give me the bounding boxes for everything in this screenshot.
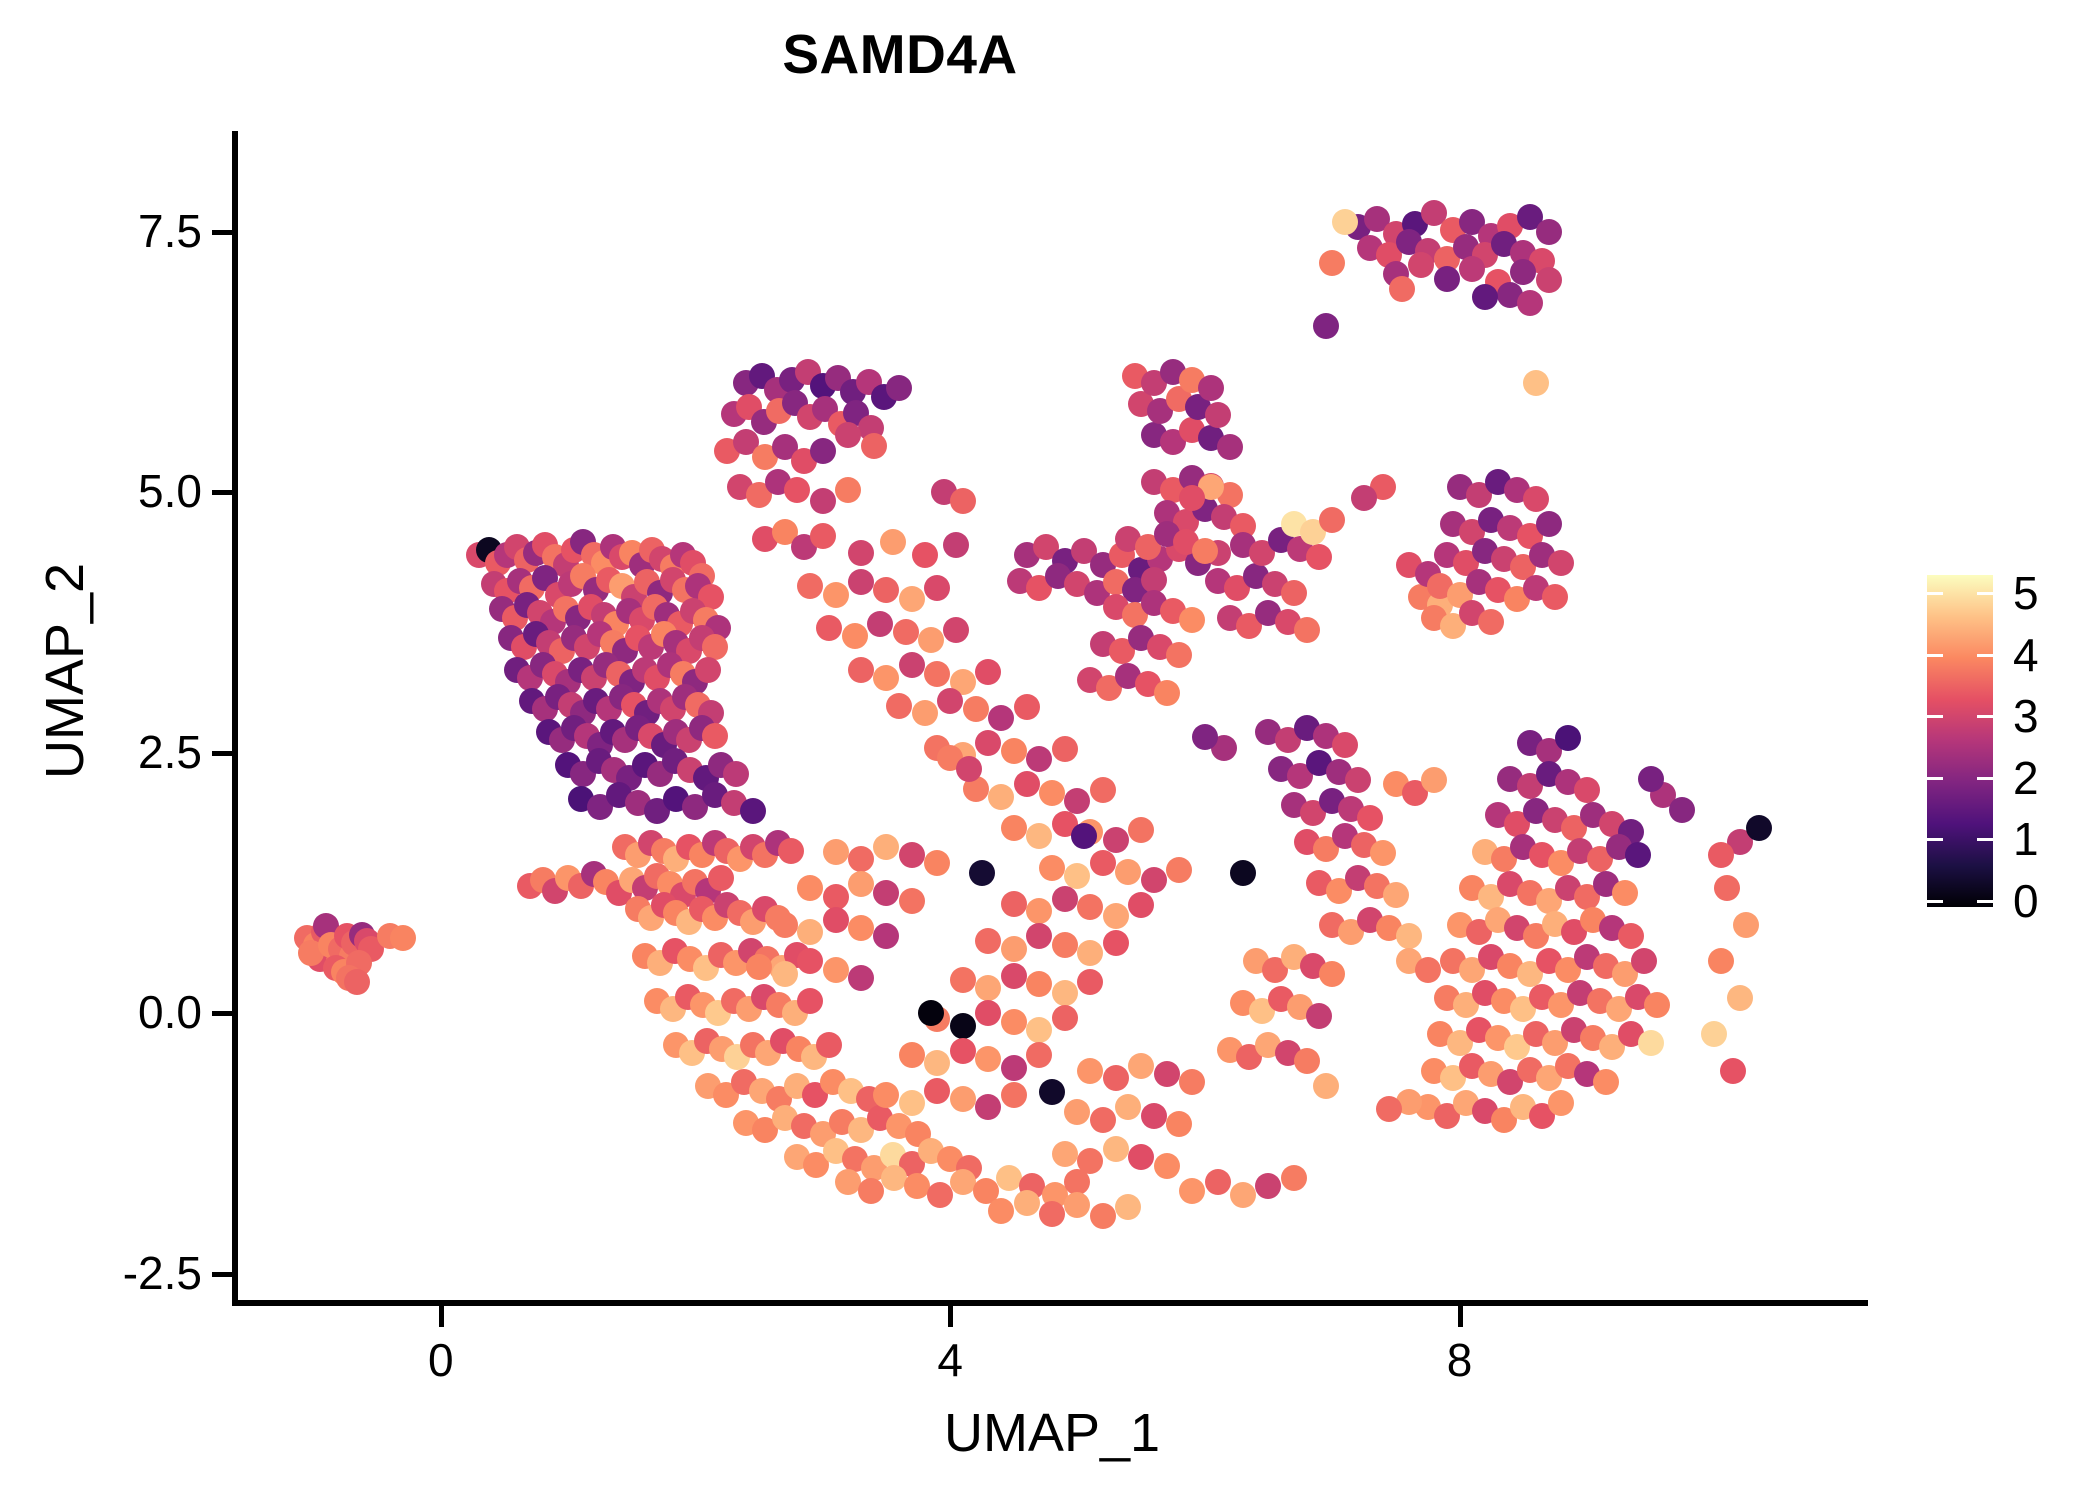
x-axis-tick-label: 4 [890, 1333, 1010, 1387]
x-axis-tick [439, 1305, 444, 1327]
scatter-point [1026, 1042, 1052, 1068]
scatter-point [848, 871, 874, 897]
scatter-point [1523, 370, 1549, 396]
y-axis-line [232, 131, 238, 1303]
colorbar-tick [1927, 777, 1943, 780]
scatter-point [867, 611, 893, 637]
scatter-point [1039, 855, 1065, 881]
scatter-point [1746, 815, 1772, 841]
scatter-point [861, 433, 887, 459]
scatter-point [816, 1032, 842, 1058]
scatter-point [1294, 1048, 1320, 1074]
scatter-point [1001, 1009, 1027, 1035]
scatter-point [873, 834, 899, 860]
colorbar-tick [1927, 654, 1943, 657]
scatter-point [1345, 767, 1371, 793]
scatter-point [746, 954, 772, 980]
scatter-point [1396, 923, 1422, 949]
scatter-point [975, 1046, 1001, 1072]
scatter-point [1510, 259, 1536, 285]
scatter-point [950, 967, 976, 993]
scatter-point [835, 422, 861, 448]
scatter-point [943, 532, 969, 558]
x-axis-tick [948, 1305, 953, 1327]
y-axis-tick [212, 751, 234, 756]
scatter-point [1115, 859, 1141, 885]
scatter-point [1128, 1053, 1154, 1079]
scatter-point [810, 438, 836, 464]
umap-feature-plot: SAMD4A -2.50.02.55.07.5 048 UMAP_2 UMAP_… [0, 0, 2100, 1500]
scatter-point [1115, 1194, 1141, 1220]
scatter-point [886, 693, 912, 719]
scatter-point [1669, 797, 1695, 823]
scatter-point [1166, 1111, 1192, 1137]
colorbar-tick-label: 5 [2013, 566, 2039, 620]
scatter-point [899, 586, 925, 612]
scatter-point [1064, 863, 1090, 889]
scatter-point [784, 477, 810, 503]
scatter-point [1179, 1178, 1205, 1204]
scatter-point [1077, 940, 1103, 966]
scatter-point [1064, 1192, 1090, 1218]
scatter-point [1714, 875, 1740, 901]
scatter-point [848, 540, 874, 566]
scatter-point [390, 925, 416, 951]
y-axis-tick-label: 0.0 [138, 985, 202, 1039]
scatter-point [1077, 1058, 1103, 1084]
scatter-point [1154, 1153, 1180, 1179]
scatter-point [823, 884, 849, 910]
scatter-point [797, 573, 823, 599]
scatter-point [1612, 880, 1638, 906]
scatter-point [1306, 1003, 1332, 1029]
scatter-point [975, 730, 1001, 756]
scatter-point [1313, 1073, 1339, 1099]
scatter-point [899, 652, 925, 678]
scatter-point [1014, 1190, 1040, 1216]
scatter-point [975, 975, 1001, 1001]
scatter-point [848, 657, 874, 683]
scatter-point [702, 723, 728, 749]
colorbar-tick [1977, 592, 1993, 595]
scatter-point [873, 665, 899, 691]
scatter-point [969, 860, 995, 886]
scatter-point [918, 627, 944, 653]
y-axis-tick [212, 1272, 234, 1277]
scatter-point [1536, 267, 1562, 293]
scatter-point [723, 761, 749, 787]
scatter-point [1090, 850, 1116, 876]
scatter-point [1052, 736, 1078, 762]
scatter-point [1548, 550, 1574, 576]
scatter-point [695, 657, 721, 683]
scatter-point [924, 661, 950, 687]
scatter-point [1415, 957, 1441, 983]
colorbar-tick-label: 2 [2013, 751, 2039, 805]
colorbar-tick-label: 3 [2013, 689, 2039, 743]
scatter-point [1536, 511, 1562, 537]
scatter-point [1001, 815, 1027, 841]
scatter-point [924, 575, 950, 601]
y-axis-tick [212, 230, 234, 235]
scatter-point [950, 1086, 976, 1112]
scatter-point [1319, 250, 1345, 276]
scatter-point [1523, 486, 1549, 512]
scatter-point [1574, 777, 1600, 803]
x-axis-tick-label: 8 [1400, 1333, 1520, 1387]
scatter-point [778, 838, 804, 864]
scatter-point [1733, 912, 1759, 938]
scatter-point [886, 375, 912, 401]
scatter-point [1179, 607, 1205, 633]
scatter-point [1014, 694, 1040, 720]
scatter-point [1077, 1148, 1103, 1174]
scatter-point [1001, 1082, 1027, 1108]
page-title: SAMD4A [0, 22, 1800, 86]
scatter-point [1154, 680, 1180, 706]
scatter-point [1103, 930, 1129, 956]
scatter-point [1351, 485, 1377, 511]
scatter-point [899, 888, 925, 914]
scatter-point [899, 842, 925, 868]
x-axis-title: UMAP_1 [237, 1402, 1867, 1464]
scatter-point [823, 839, 849, 865]
colorbar-tick [1927, 592, 1943, 595]
colorbar-tick [1977, 838, 1993, 841]
scatter-point [899, 1042, 925, 1068]
scatter-point [943, 617, 969, 643]
scatter-point [1179, 1069, 1205, 1095]
scatter-point [1166, 642, 1192, 668]
scatter-point [950, 1169, 976, 1195]
scatter-point [1205, 1169, 1231, 1195]
scatter-point [1026, 746, 1052, 772]
plot-panel [237, 133, 1867, 1300]
scatter-point [1090, 1107, 1116, 1133]
scatter-point [937, 688, 963, 714]
scatter-point [1701, 1021, 1727, 1047]
scatter-point [842, 623, 868, 649]
scatter-point [848, 569, 874, 595]
scatter-point [1077, 894, 1103, 920]
scatter-point [1103, 1136, 1129, 1162]
colorbar-tick-label: 0 [2013, 874, 2039, 928]
scatter-point [950, 1013, 976, 1039]
scatter-point [1090, 1203, 1116, 1229]
scatter-point [988, 1198, 1014, 1224]
scatter-point [816, 615, 842, 641]
scatter-point [1077, 969, 1103, 995]
scatter-point [1281, 1165, 1307, 1191]
y-axis-tick-label: 7.5 [138, 204, 202, 258]
scatter-point [797, 988, 823, 1014]
scatter-point [1555, 725, 1581, 751]
scatter-point [1638, 766, 1664, 792]
scatter-point [1638, 1030, 1664, 1056]
scatter-point [1319, 507, 1345, 533]
scatter-point [1026, 898, 1052, 924]
scatter-point [1192, 724, 1218, 750]
scatter-point [797, 875, 823, 901]
scatter-point [963, 696, 989, 722]
scatter-point [924, 1078, 950, 1104]
scatter-point [1014, 771, 1040, 797]
scatter-point [899, 1090, 925, 1116]
scatter-point [1090, 777, 1116, 803]
scatter-point [1357, 805, 1383, 831]
scatter-point [950, 1038, 976, 1064]
scatter-point [873, 577, 899, 603]
scatter-point [1421, 767, 1447, 793]
scatter-point [1064, 1099, 1090, 1125]
scatter-point [1205, 402, 1231, 428]
scatter-point [1631, 948, 1657, 974]
scatter-point [1115, 1094, 1141, 1120]
x-axis-tick-label: 0 [381, 1333, 501, 1387]
scatter-point [1026, 923, 1052, 949]
scatter-points-layer [237, 133, 1867, 1300]
scatter-point [1026, 971, 1052, 997]
scatter-point [797, 948, 823, 974]
scatter-point [1593, 1069, 1619, 1095]
scatter-point [772, 912, 798, 938]
scatter-point [1103, 903, 1129, 929]
scatter-point [810, 488, 836, 514]
colorbar-tick [1977, 654, 1993, 657]
y-axis-tick [212, 490, 234, 495]
scatter-point [1166, 857, 1192, 883]
y-axis-tick [212, 1011, 234, 1016]
x-axis-line [232, 1300, 1868, 1306]
scatter-point [835, 477, 861, 503]
scatter-point [1071, 823, 1097, 849]
colorbar-tick [1977, 715, 1993, 718]
scatter-point [924, 1050, 950, 1076]
colorbar-tick [1977, 900, 1993, 903]
scatter-point [873, 1082, 899, 1108]
x-axis-tick [1458, 1305, 1463, 1327]
scatter-point [708, 865, 734, 891]
scatter-point [1039, 1079, 1065, 1105]
scatter-point [1179, 485, 1205, 511]
scatter-point [1052, 1141, 1078, 1167]
scatter-point [1478, 609, 1504, 635]
scatter-point [1217, 434, 1243, 460]
scatter-point [975, 1094, 1001, 1120]
colorbar-tick-label: 1 [2013, 812, 2039, 866]
scatter-point [1052, 886, 1078, 912]
scatter-point [988, 705, 1014, 731]
colorbar-tick [1927, 715, 1943, 718]
scatter-point [1383, 882, 1409, 908]
scatter-point [1313, 313, 1339, 339]
scatter-point [873, 880, 899, 906]
colorbar-tick [1927, 900, 1943, 903]
scatter-point [1370, 840, 1396, 866]
scatter-point [1389, 276, 1415, 302]
scatter-point [1001, 891, 1027, 917]
scatter-point [344, 969, 370, 995]
scatter-point [810, 523, 836, 549]
scatter-point [1332, 209, 1358, 235]
y-axis-tick-label: -2.5 [123, 1246, 202, 1300]
scatter-point [1198, 375, 1224, 401]
scatter-point [1230, 860, 1256, 886]
scatter-point [1141, 1103, 1167, 1129]
scatter-point [912, 542, 938, 568]
scatter-point [858, 1178, 884, 1204]
scatter-point [1319, 961, 1345, 987]
scatter-point [975, 659, 1001, 685]
scatter-point [1625, 842, 1651, 868]
scatter-point [848, 846, 874, 872]
scatter-point [996, 1165, 1022, 1191]
scatter-point [823, 907, 849, 933]
scatter-point [924, 850, 950, 876]
scatter-point [1281, 580, 1307, 606]
colorbar-tick-label: 4 [2013, 628, 2039, 682]
scatter-point [1103, 1065, 1129, 1091]
scatter-point [772, 961, 798, 987]
scatter-point [975, 1000, 1001, 1026]
scatter-point [1141, 867, 1167, 893]
scatter-point [1376, 1096, 1402, 1122]
scatter-point [1727, 985, 1753, 1011]
y-axis-tick-label: 5.0 [138, 464, 202, 518]
scatter-point [950, 488, 976, 514]
scatter-point [848, 965, 874, 991]
scatter-point [1536, 219, 1562, 245]
scatter-point [1064, 788, 1090, 814]
scatter-point [1001, 963, 1027, 989]
scatter-point [1026, 1017, 1052, 1043]
scatter-point [797, 919, 823, 945]
scatter-point [873, 923, 899, 949]
scatter-point [1039, 780, 1065, 806]
scatter-point [1644, 992, 1670, 1018]
scatter-point [1192, 538, 1218, 564]
scatter-point [880, 529, 906, 555]
scatter-point [1548, 1090, 1574, 1116]
scatter-point [1708, 842, 1734, 868]
scatter-point [702, 634, 728, 660]
scatter-point [1128, 817, 1154, 843]
scatter-point [956, 756, 982, 782]
colorbar-gradient [1927, 575, 1993, 907]
scatter-point [988, 784, 1014, 810]
scatter-point [912, 700, 938, 726]
colorbar-tick [1977, 777, 1993, 780]
scatter-point [1542, 584, 1568, 610]
scatter-point [1720, 1058, 1746, 1084]
scatter-point [1128, 892, 1154, 918]
scatter-point [1001, 1055, 1027, 1081]
scatter-point [1052, 1005, 1078, 1031]
scatter-point [1255, 1173, 1281, 1199]
scatter-point [740, 798, 766, 824]
scatter-point [1472, 284, 1498, 310]
scatter-point [1052, 980, 1078, 1006]
scatter-point [1230, 1182, 1256, 1208]
scatter-point [1434, 266, 1460, 292]
scatter-point [848, 915, 874, 941]
scatter-point [1026, 823, 1052, 849]
scatter-point [1001, 738, 1027, 764]
scatter-point [927, 1182, 953, 1208]
scatter-point [823, 582, 849, 608]
scatter-point [1039, 1201, 1065, 1227]
scatter-point [1708, 948, 1734, 974]
scatter-point [1154, 1061, 1180, 1087]
scatter-point [1459, 256, 1485, 282]
y-axis-title: UMAP_2 [34, 411, 96, 931]
scatter-point [1306, 544, 1332, 570]
scatter-point [1294, 617, 1320, 643]
y-axis-tick-label: 2.5 [138, 725, 202, 779]
scatter-point [893, 619, 919, 645]
scatter-point [1517, 290, 1543, 316]
scatter-point [975, 928, 1001, 954]
colorbar-tick [1927, 838, 1943, 841]
scatter-point [1052, 932, 1078, 958]
scatter-point [1332, 732, 1358, 758]
scatter-point [1128, 1144, 1154, 1170]
scatter-point [1001, 936, 1027, 962]
scatter-point [823, 957, 849, 983]
scatter-point [1408, 252, 1434, 278]
scatter-point [1618, 923, 1644, 949]
